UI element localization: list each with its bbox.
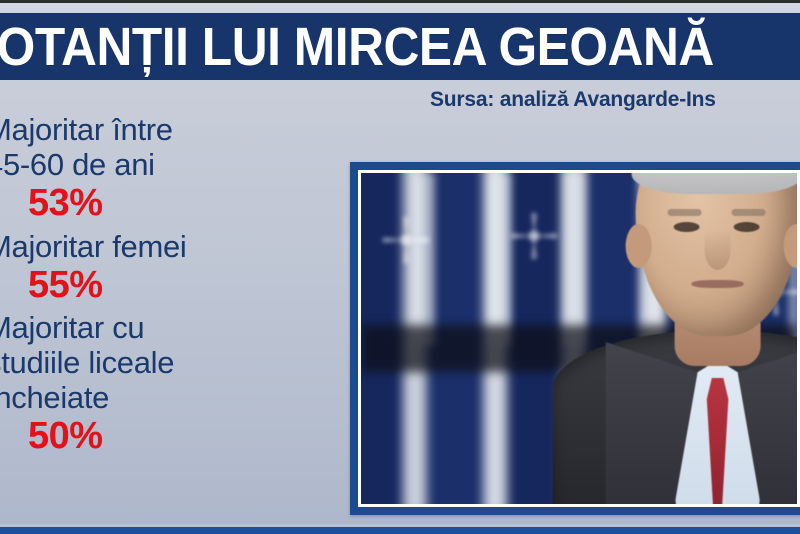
stats-column: Majoritar între 45-60 de ani 53% Majorit… bbox=[0, 112, 300, 460]
stat-value: 50% bbox=[28, 415, 300, 458]
infographic-root: VOTANȚII LUI MIRCEA GEOANĂ Sursa: analiz… bbox=[0, 0, 800, 534]
nato-star-icon bbox=[383, 217, 429, 263]
nato-star-icon bbox=[511, 213, 557, 259]
stat-value: 53% bbox=[28, 182, 300, 225]
mouth bbox=[692, 280, 744, 288]
top-edge-gap bbox=[0, 3, 800, 13]
eye-left bbox=[674, 222, 700, 232]
eye-right bbox=[734, 222, 760, 232]
eyebrow-left bbox=[668, 209, 702, 216]
stat-value: 55% bbox=[28, 264, 300, 307]
stat-item: Majoritar femei 55% bbox=[0, 229, 300, 307]
stat-item: Majoritar între 45-60 de ani 53% bbox=[0, 112, 300, 225]
bottom-accent-bar bbox=[0, 527, 800, 534]
eyebrow-right bbox=[732, 209, 766, 216]
stat-item: Majoritar cu studiile liceale încheiate … bbox=[0, 310, 300, 458]
subject-figure bbox=[553, 173, 800, 504]
headline-text: VOTANȚII LUI MIRCEA GEOANĂ bbox=[0, 20, 714, 74]
grey-hair bbox=[632, 170, 800, 194]
portrait-frame bbox=[350, 162, 800, 515]
stat-label: Majoritar femei bbox=[0, 229, 300, 264]
portrait-photo bbox=[358, 170, 800, 507]
source-label: Sursa: analiză Avangarde-Ins bbox=[430, 88, 716, 112]
nose bbox=[705, 230, 731, 270]
ear-left bbox=[626, 224, 652, 268]
headline-band: VOTANȚII LUI MIRCEA GEOANĂ bbox=[0, 13, 800, 80]
stat-label: Majoritar între 45-60 de ani bbox=[0, 112, 300, 182]
stat-label: Majoritar cu studiile liceale încheiate bbox=[0, 310, 300, 415]
